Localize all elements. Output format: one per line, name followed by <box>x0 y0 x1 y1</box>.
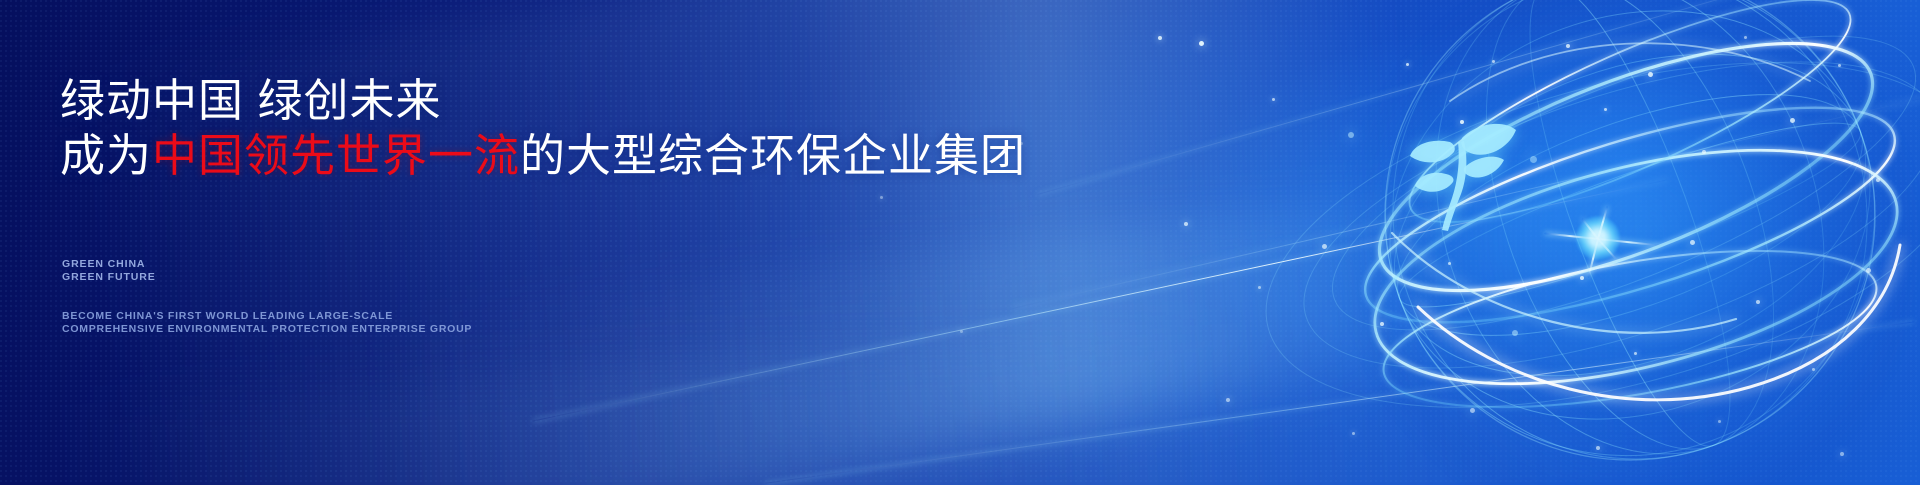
subtitle-en-line-1: BECOME CHINA'S FIRST WORLD LEADING LARGE… <box>62 310 472 323</box>
subtitle-en-line-2: COMPREHENSIVE ENVIRONMENTAL PROTECTION E… <box>62 323 472 336</box>
headline-line-2-suffix: 的大型综合环保企业集团 <box>520 130 1026 181</box>
hero-banner: 绿动中国 绿创未来 成为中国领先世界一流的大型综合环保企业集团 GREEN CH… <box>0 0 1920 485</box>
headline-line-2-highlight: 中国领先世界一流 <box>152 130 520 181</box>
headline-line-1: 绿动中国 绿创未来 <box>60 78 442 123</box>
tagline-en: GREEN CHINA GREEN FUTURE <box>62 258 156 284</box>
tagline-en-line-1: GREEN CHINA <box>62 258 156 271</box>
tagline-en-line-2: GREEN FUTURE <box>62 271 156 284</box>
headline-line-2: 成为中国领先世界一流的大型综合环保企业集团 <box>60 133 1026 178</box>
copy-block: 绿动中国 绿创未来 成为中国领先世界一流的大型综合环保企业集团 GREEN CH… <box>60 0 1120 485</box>
subtitle-en: BECOME CHINA'S FIRST WORLD LEADING LARGE… <box>62 310 472 336</box>
headline-line-2-prefix: 成为 <box>60 130 152 181</box>
